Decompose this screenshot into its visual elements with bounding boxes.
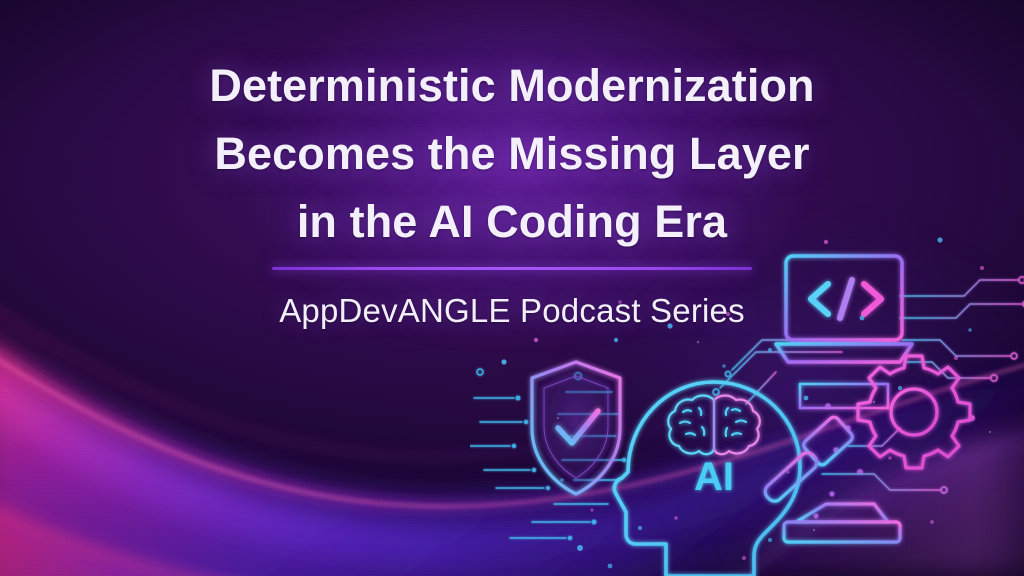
title-line-3: in the AI Coding Era: [0, 188, 1024, 256]
ai-label: AI: [694, 455, 734, 499]
gear-icon: [858, 356, 970, 468]
tech-illustration: AI: [470, 222, 1024, 576]
illustration-svg: AI: [470, 222, 1024, 576]
title-line-1: Deterministic Modernization: [0, 52, 1024, 120]
series-subtitle: AppDevANGLE Podcast Series: [0, 288, 1024, 334]
title-line-2: Becomes the Missing Layer: [0, 120, 1024, 188]
shield-check-icon: [532, 362, 620, 494]
title-divider-wrap: [0, 267, 1024, 270]
title-divider: [272, 267, 752, 270]
ai-head-brain-icon: AI: [614, 382, 800, 576]
title-slide: AI: [0, 0, 1024, 576]
page-title: Deterministic Modernization Becomes the …: [0, 52, 1024, 256]
